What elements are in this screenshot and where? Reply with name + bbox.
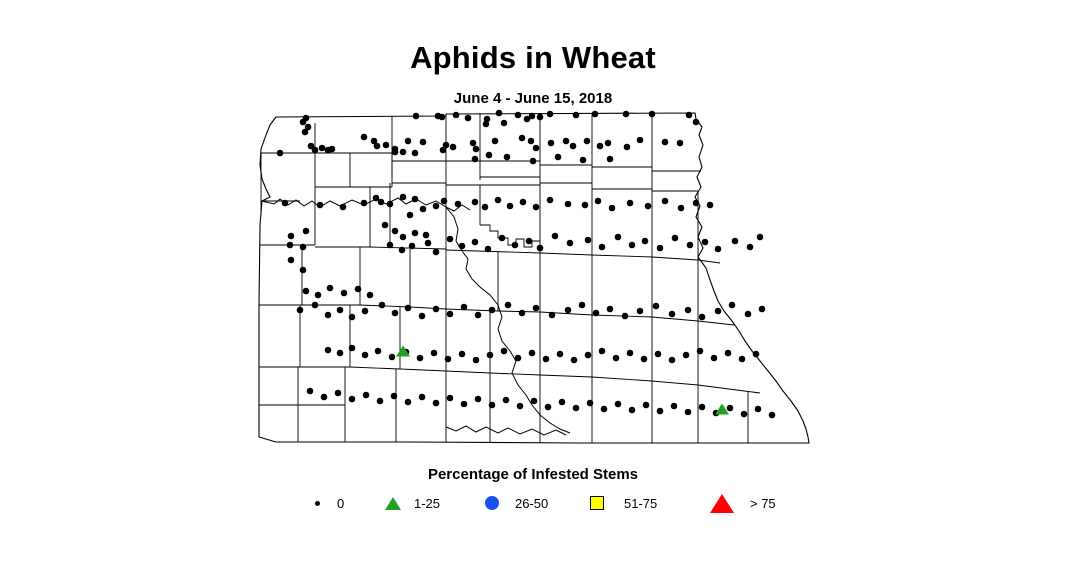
map-point-zero: [317, 202, 324, 209]
map-point-zero: [530, 158, 537, 165]
map-point-zero: [472, 239, 479, 246]
map-point-zero: [419, 394, 426, 401]
map-point-zero: [445, 356, 452, 363]
map-point-zero: [584, 138, 591, 145]
legend-label-51-75: 51-75: [624, 496, 657, 511]
map-point-zero: [459, 351, 466, 358]
map-point-zero: [547, 111, 554, 118]
map-point-zero: [297, 307, 304, 314]
map-point-zero: [472, 156, 479, 163]
map-point-zero: [307, 388, 314, 395]
map-point-zero: [613, 355, 620, 362]
map-point-zero: [361, 134, 368, 141]
map-point-zero: [520, 199, 527, 206]
map-point-zero: [609, 205, 616, 212]
map-point-zero: [361, 200, 368, 207]
legend-label-1-25: 1-25: [414, 496, 440, 511]
map-point-zero: [375, 348, 382, 355]
map-point-zero: [715, 246, 722, 253]
map-point-zero: [387, 242, 394, 249]
map-point-zero: [629, 242, 636, 249]
map-point-zero: [387, 201, 394, 208]
map-point-zero: [645, 203, 652, 210]
map-point-zero: [725, 350, 732, 357]
blue-circle-icon: [485, 496, 499, 510]
map-point-zero: [759, 306, 766, 313]
map-point-zero: [325, 347, 332, 354]
map-point-zero: [592, 111, 599, 118]
map-point-zero: [515, 355, 522, 362]
map-point-zero: [623, 111, 630, 118]
map-point-zero: [489, 307, 496, 314]
map-point-zero: [655, 351, 662, 358]
map-point-zero: [382, 222, 389, 229]
map-point-zero: [570, 143, 577, 150]
map-point-zero: [300, 244, 307, 251]
map-point-zero: [400, 149, 407, 156]
map-point-zero: [487, 352, 494, 359]
map-point-zero: [405, 138, 412, 145]
map-point-zero: [707, 202, 714, 209]
map-point-zero: [303, 288, 310, 295]
map-point-zero: [489, 402, 496, 409]
legend-item-gt-75: > 75: [710, 490, 776, 516]
legend-label-26-50: 26-50: [515, 496, 548, 511]
map-point-zero: [392, 228, 399, 235]
map-point-zero: [407, 212, 414, 219]
map-point-zero: [669, 311, 676, 318]
legend-label-0: 0: [337, 496, 344, 511]
map-point-zero: [475, 396, 482, 403]
map-point-zero: [685, 409, 692, 416]
map-point-zero: [528, 138, 535, 145]
small-black-dot-icon: [315, 501, 320, 506]
map-point-zero: [567, 240, 574, 247]
map-point-zero: [672, 235, 679, 242]
map-point-zero: [671, 403, 678, 410]
map-point-zero: [571, 357, 578, 364]
map-point-zero: [447, 236, 454, 243]
map-point-zero: [595, 198, 602, 205]
page-title: Aphids in Wheat: [0, 40, 1066, 76]
map-point-zero: [319, 145, 326, 152]
map-point-zero: [537, 245, 544, 252]
map-point-zero: [417, 355, 424, 362]
map-point-zero: [548, 140, 555, 147]
map-point-zero: [303, 115, 310, 122]
map-point-zero: [653, 303, 660, 310]
map-point-zero: [605, 140, 612, 147]
map-point-zero: [529, 350, 536, 357]
map-point-zero: [400, 234, 407, 241]
map-point-zero: [504, 154, 511, 161]
map-point-zero: [693, 119, 700, 126]
map-point-zero: [412, 150, 419, 157]
map-point-zero: [597, 143, 604, 150]
map-point-zero: [329, 146, 336, 153]
map-point-zero: [579, 302, 586, 309]
map-point-zero: [649, 111, 656, 118]
map-point-zero: [337, 307, 344, 314]
map-point-zero: [492, 138, 499, 145]
map-point-zero: [349, 396, 356, 403]
map-point-zero: [482, 204, 489, 211]
map-point-zero: [599, 244, 606, 251]
legend-title: Percentage of Infested Stems: [0, 466, 1066, 483]
map-point-zero: [447, 395, 454, 402]
map-point-zero: [501, 348, 508, 355]
map-point-zero: [593, 310, 600, 317]
map-point-zero: [433, 249, 440, 256]
map-point-zero: [662, 139, 669, 146]
map-point-zero: [302, 129, 309, 136]
map-point-zero: [637, 308, 644, 315]
map-point-zero: [495, 197, 502, 204]
map-point-zero: [697, 348, 704, 355]
map-point-zero: [455, 201, 462, 208]
map-point-zero: [755, 406, 762, 413]
map-point-zero: [363, 392, 370, 399]
map-point-zero: [453, 112, 460, 119]
map-point-zero: [321, 394, 328, 401]
map-point-zero: [629, 407, 636, 414]
map-point-zero: [627, 200, 634, 207]
map-point-zero: [739, 356, 746, 363]
map-point-zero: [439, 114, 446, 121]
map-point-zero: [685, 307, 692, 314]
map-point-zero: [587, 400, 594, 407]
map-point-zero: [392, 310, 399, 317]
map-point-zero: [443, 142, 450, 149]
map-point-zero: [585, 352, 592, 359]
map-point-zero: [412, 230, 419, 237]
map-point-zero: [643, 402, 650, 409]
map-point-zero: [711, 355, 718, 362]
map-point-zero: [503, 397, 510, 404]
map-point-zero: [533, 305, 540, 312]
map-point-zero: [447, 311, 454, 318]
map-point-zero: [349, 314, 356, 321]
map-point-zero: [433, 400, 440, 407]
map-point-zero: [423, 232, 430, 239]
map-point-zero: [433, 306, 440, 313]
map-point-zero: [543, 356, 550, 363]
legend-item-26-50: 26-50: [485, 490, 548, 516]
map-point-zero: [287, 242, 294, 249]
map-point-zero: [693, 200, 700, 207]
map-point-zero: [472, 199, 479, 206]
map-point-zero: [747, 244, 754, 251]
map-point-zero: [677, 140, 684, 147]
map-point-zero: [277, 150, 284, 157]
map-point-zero: [473, 357, 480, 364]
map-point-zero: [470, 140, 477, 147]
map-point-zero: [662, 198, 669, 205]
map-point-zero: [362, 308, 369, 315]
map-point-zero: [622, 313, 629, 320]
legend-item-1-25: 1-25: [385, 490, 440, 516]
map-point-zero: [362, 352, 369, 359]
map-point-zero: [563, 138, 570, 145]
map-point-zero: [517, 403, 524, 410]
map-point-zero: [699, 314, 706, 321]
map-point-zero: [519, 310, 526, 317]
yellow-square-icon: [590, 496, 604, 510]
map-point-zero: [288, 233, 295, 240]
map-point-zero: [683, 352, 690, 359]
map-point-zero: [325, 312, 332, 319]
map-point-zero: [419, 313, 426, 320]
map-point-zero: [496, 110, 503, 117]
map-point-zero: [340, 204, 347, 211]
map-point-zero: [565, 201, 572, 208]
map-point-zero: [486, 152, 493, 159]
map-point-zero: [383, 142, 390, 149]
map-point-zero: [450, 144, 457, 151]
map-container: [240, 105, 830, 455]
map-point-zero: [409, 243, 416, 250]
map-point-zero: [461, 304, 468, 311]
map-point-zero: [512, 242, 519, 249]
map-point-zero: [547, 197, 554, 204]
map-point-zero: [727, 405, 734, 412]
map-point-zero: [757, 234, 764, 241]
map-figure: Aphids in Wheat June 4 - June 15, 2018: [0, 0, 1066, 587]
legend-item-0: 0: [315, 490, 344, 516]
map-point-zero: [485, 246, 492, 253]
map-point-zero: [769, 412, 776, 419]
map-point-zero: [501, 120, 508, 127]
map-point-zero: [507, 203, 514, 210]
map-point-zero: [303, 228, 310, 235]
map-point-zero: [425, 240, 432, 247]
map-point-zero: [580, 157, 587, 164]
map-point-zero: [405, 399, 412, 406]
map-point-zero: [607, 156, 614, 163]
map-point-zero: [515, 112, 522, 119]
map-point-zero: [459, 243, 466, 250]
map-point-zero: [585, 237, 592, 244]
map-point-zero: [545, 404, 552, 411]
map-point-zero: [312, 302, 319, 309]
map-point-zero: [327, 285, 334, 292]
map-point-zero: [475, 312, 482, 319]
map-point-zero: [400, 194, 407, 201]
map-point-zero: [678, 205, 685, 212]
map-point-zero: [687, 242, 694, 249]
map-point-zero: [379, 302, 386, 309]
map-point-zero: [715, 308, 722, 315]
map-point-zero: [473, 146, 480, 153]
map-point-zero: [315, 292, 322, 299]
map-point-zero: [391, 393, 398, 400]
map-point-zero: [615, 234, 622, 241]
map-point-zero: [745, 311, 752, 318]
red-triangle-icon: [710, 494, 734, 513]
map-point-zero: [627, 350, 634, 357]
map-point-zero: [565, 307, 572, 314]
map-point-zero: [282, 200, 289, 207]
map-point-zero: [355, 286, 362, 293]
map-point-zero: [420, 139, 427, 146]
map-point-zero: [337, 350, 344, 357]
map-point-zero: [349, 345, 356, 352]
map-point-zero: [549, 312, 556, 319]
map-point-zero: [288, 257, 295, 264]
legend-label-gt-75: > 75: [750, 496, 776, 511]
map-point-zero: [686, 112, 693, 119]
map-point-zero: [374, 143, 381, 150]
map-point-zero: [559, 399, 566, 406]
north-dakota-map: [240, 105, 830, 455]
legend: Percentage of Infested Stems 0 1-25 26-5…: [0, 462, 1066, 522]
map-point-zero: [573, 405, 580, 412]
map-point-zero: [529, 113, 536, 120]
map-point-zero: [657, 245, 664, 252]
map-point-zero: [552, 233, 559, 240]
map-point-zero: [599, 348, 606, 355]
map-point-zero: [601, 406, 608, 413]
map-point-zero: [641, 356, 648, 363]
map-point-zero: [378, 199, 385, 206]
map-point-zero: [367, 292, 374, 299]
map-point-zero: [389, 354, 396, 361]
map-point-zero: [377, 398, 384, 405]
map-point-zero: [405, 305, 412, 312]
map-point-zero: [413, 113, 420, 120]
map-point-zero: [642, 238, 649, 245]
map-point-zero: [465, 115, 472, 122]
map-point-zero: [582, 202, 589, 209]
map-point-zero: [533, 145, 540, 152]
map-point-zero: [729, 302, 736, 309]
map-point-zero: [699, 404, 706, 411]
map-point-zero: [624, 144, 631, 151]
map-point-zero: [732, 238, 739, 245]
map-point-zero: [537, 114, 544, 121]
green-triangle-icon: [385, 497, 401, 510]
map-point-zero: [573, 112, 580, 119]
map-point-zero: [300, 267, 307, 274]
map-point-zero: [753, 351, 760, 358]
map-point-zero: [399, 247, 406, 254]
map-point-zero: [607, 306, 614, 313]
map-point-zero: [669, 357, 676, 364]
map-point-zero: [392, 149, 399, 156]
map-point-zero: [335, 390, 342, 397]
map-point-zero: [741, 411, 748, 418]
map-point-zero: [499, 235, 506, 242]
map-point-zero: [526, 238, 533, 245]
map-point-zero: [441, 198, 448, 205]
map-point-zero: [657, 408, 664, 415]
map-point-zero: [637, 137, 644, 144]
map-point-zero: [341, 290, 348, 297]
map-point-zero: [433, 203, 440, 210]
map-point-zero: [531, 398, 538, 405]
map-point-zero: [431, 350, 438, 357]
map-point-zero: [615, 401, 622, 408]
legend-item-51-75: 51-75: [590, 490, 657, 516]
map-point-zero: [312, 147, 319, 154]
map-point-zero: [412, 196, 419, 203]
map-point-zero: [461, 401, 468, 408]
map-point-zero: [519, 135, 526, 142]
map-point-zero: [483, 121, 490, 128]
map-point-zero: [533, 204, 540, 211]
map-point-zero: [420, 206, 427, 213]
map-point-zero: [505, 302, 512, 309]
map-point-zero: [702, 239, 709, 246]
map-point-zero: [555, 154, 562, 161]
map-point-zero: [557, 351, 564, 358]
